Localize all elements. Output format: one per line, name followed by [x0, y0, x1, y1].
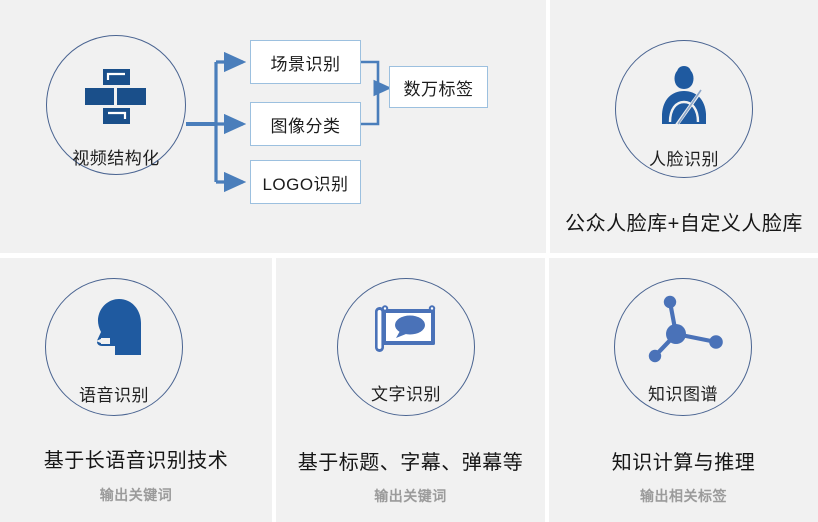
- subcaption-speech-recognition: 输出关键词: [0, 485, 272, 505]
- panel-text-recognition: 文字识别 基于标题、字幕、弹幕等 输出关键词: [276, 258, 545, 522]
- flowbox-scene-recognition[interactable]: 场景识别: [250, 40, 361, 84]
- panel-knowledge-graph: 知识图谱 知识计算与推理 输出相关标签: [549, 258, 818, 522]
- speaking-head-icon: [86, 298, 144, 360]
- panel-speech-recognition: 语音识别 基于长语音识别技术 输出关键词: [0, 258, 272, 522]
- panel-video-structuring: 视频结构化 场景识别 图像分类 LOGO识别 数万标签: [0, 0, 546, 253]
- flowbox-image-classification[interactable]: 图像分类: [250, 102, 361, 146]
- circle-label-text-recognition: 文字识别: [337, 380, 475, 405]
- person-face-scan-icon: [657, 66, 711, 128]
- caption-face-recognition: 公众人脸库+自定义人脸库: [550, 207, 818, 236]
- video-structure-icon: [85, 68, 147, 126]
- flowbox-tens-of-thousands-tags[interactable]: 数万标签: [389, 66, 488, 108]
- subcaption-text-recognition: 输出关键词: [276, 486, 545, 506]
- circle-label-video-structuring: 视频结构化: [46, 144, 186, 169]
- infographic-canvas: 视频结构化 场景识别 图像分类 LOGO识别 数万标签 人脸识别 公众人脸库+自…: [0, 0, 818, 522]
- circle-label-knowledge-graph: 知识图谱: [614, 380, 752, 405]
- network-graph-icon: [644, 294, 726, 364]
- caption-knowledge-graph: 知识计算与推理: [549, 446, 818, 475]
- subcaption-knowledge-graph: 输出相关标签: [549, 486, 818, 506]
- panel-face-recognition: 人脸识别 公众人脸库+自定义人脸库: [550, 0, 818, 253]
- caption-speech-recognition: 基于长语音识别技术: [0, 444, 272, 473]
- circle-label-speech-recognition: 语音识别: [45, 381, 183, 406]
- banner-speech-bubble-icon: [373, 304, 439, 356]
- caption-text-recognition: 基于标题、字幕、弹幕等: [276, 446, 545, 475]
- circle-label-face-recognition: 人脸识别: [615, 145, 753, 170]
- flowbox-logo-recognition[interactable]: LOGO识别: [250, 160, 361, 204]
